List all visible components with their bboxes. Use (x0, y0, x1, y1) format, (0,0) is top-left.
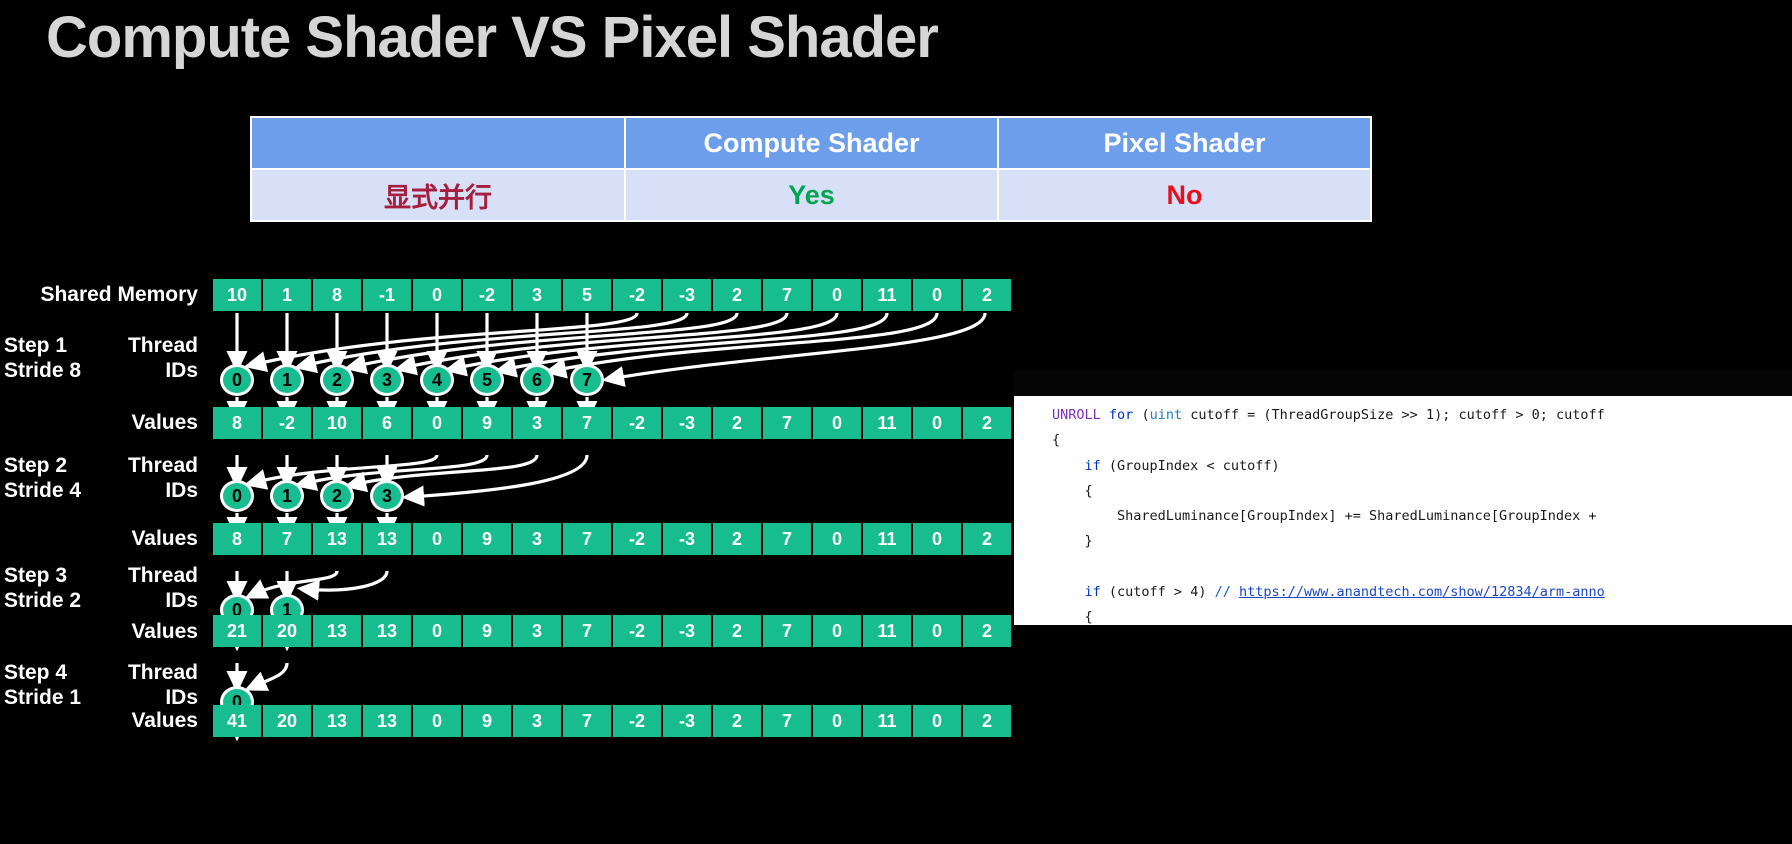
value-cell: 3 (513, 279, 561, 311)
value-cell: 2 (963, 279, 1011, 311)
thread-node: 0 (220, 480, 254, 512)
thread-node: 7 (570, 364, 604, 396)
value-cell: 2 (713, 523, 761, 555)
value-cell: 9 (463, 705, 511, 737)
value-cell: 2 (713, 407, 761, 439)
thread-slot: 5 (463, 363, 511, 397)
value-cell: -2 (613, 615, 661, 647)
value-cell: -3 (663, 615, 711, 647)
value-cell: 7 (763, 705, 811, 737)
code-panel-bottom-strip (1014, 625, 1792, 844)
step-4-values-label: Values (0, 708, 198, 733)
value-cell: 2 (713, 615, 761, 647)
value-cell: -3 (663, 407, 711, 439)
thread-slot: 7 (563, 363, 611, 397)
value-cell: 3 (513, 615, 561, 647)
value-cell: 0 (913, 705, 961, 737)
value-cell: 0 (413, 407, 461, 439)
value-cell: 13 (313, 615, 361, 647)
thread-slot: 0 (213, 363, 261, 397)
thread-node: 0 (220, 364, 254, 396)
value-cell: 2 (963, 615, 1011, 647)
thread-slot: 3 (363, 363, 411, 397)
cell-compute-shader-yes: Yes (625, 169, 998, 221)
value-cell: 2 (963, 523, 1011, 555)
value-cell: 11 (863, 615, 911, 647)
value-cell: 7 (563, 705, 611, 737)
code-panel-top-strip (1014, 370, 1792, 396)
table-header-row: Compute Shader Pixel Shader (251, 117, 1371, 169)
reduction-diagram: Shared Memory 1018-10-235-2-32701102 Ste… (0, 255, 1014, 844)
page-title: Compute Shader VS Pixel Shader (46, 4, 938, 71)
step-3-values-label: Values (0, 619, 198, 644)
step-2-values-cells: 8713130937-2-32701102 (213, 523, 1011, 555)
step-4-values-cells: 412013130937-2-32701102 (213, 705, 1011, 737)
table-header-compute-shader: Compute Shader (625, 117, 998, 169)
comparison-table: Compute Shader Pixel Shader 显式并行 Yes No (250, 116, 1372, 222)
step-1-threads-label: Thread IDs (0, 333, 198, 383)
value-cell: -1 (363, 279, 411, 311)
value-cell: 0 (413, 705, 461, 737)
value-cell: 7 (563, 523, 611, 555)
value-cell: 1 (263, 279, 311, 311)
value-cell: 7 (263, 523, 311, 555)
value-cell: 9 (463, 615, 511, 647)
value-cell: 6 (363, 407, 411, 439)
value-cell: 9 (463, 523, 511, 555)
value-cell: 9 (463, 407, 511, 439)
step-3-threads-label: Thread IDs (0, 563, 198, 613)
code-editor-panel[interactable]: UNROLL for (uint cutoff = (ThreadGroupSi… (1014, 396, 1792, 625)
step-3-values-cells: 212013130937-2-32701102 (213, 615, 1011, 647)
value-cell: 7 (763, 523, 811, 555)
value-cell: 8 (213, 407, 261, 439)
value-cell: -2 (613, 523, 661, 555)
thread-node: 6 (520, 364, 554, 396)
value-cell: 13 (313, 705, 361, 737)
value-cell: 20 (263, 615, 311, 647)
thread-slot: 2 (313, 363, 361, 397)
value-cell: 0 (813, 705, 861, 737)
value-cell: 0 (913, 407, 961, 439)
table-row: 显式并行 Yes No (251, 169, 1371, 221)
value-cell: 13 (363, 615, 411, 647)
value-cell: -2 (613, 279, 661, 311)
value-cell: 20 (263, 705, 311, 737)
value-cell: 8 (313, 279, 361, 311)
value-cell: 13 (313, 523, 361, 555)
value-cell: 0 (413, 523, 461, 555)
value-cell: 21 (213, 615, 261, 647)
value-cell: 7 (563, 615, 611, 647)
value-cell: 13 (363, 705, 411, 737)
value-cell: 11 (863, 705, 911, 737)
value-cell: 3 (513, 523, 561, 555)
value-cell: -3 (663, 279, 711, 311)
value-cell: 11 (863, 523, 911, 555)
value-cell: 0 (813, 407, 861, 439)
value-cell: 2 (963, 705, 1011, 737)
value-cell: 2 (713, 279, 761, 311)
shared-memory-cells: 1018-10-235-2-32701102 (213, 279, 1011, 311)
value-cell: 0 (813, 615, 861, 647)
value-cell: 0 (913, 615, 961, 647)
value-cell: 8 (213, 523, 261, 555)
step-2-values-label: Values (0, 526, 198, 551)
thread-node: 3 (370, 480, 404, 512)
value-cell: 2 (963, 407, 1011, 439)
value-cell: -2 (613, 705, 661, 737)
slide-canvas: Compute Shader VS Pixel Shader Compute S… (0, 0, 1792, 844)
row-label-explicit-parallelism: 显式并行 (251, 169, 625, 221)
value-cell: 10 (313, 407, 361, 439)
thread-slot: 0 (213, 479, 261, 513)
value-cell: 41 (213, 705, 261, 737)
thread-slot: 4 (413, 363, 461, 397)
value-cell: 2 (713, 705, 761, 737)
value-cell: -2 (263, 407, 311, 439)
value-cell: 11 (863, 279, 911, 311)
table-header-blank (251, 117, 625, 169)
step-1-thread-nodes: 01234567 (213, 363, 611, 397)
step-2-thread-nodes: 0123 (213, 479, 411, 513)
thread-node: 4 (420, 364, 454, 396)
value-cell: 7 (763, 407, 811, 439)
value-cell: 7 (763, 279, 811, 311)
value-cell: 0 (813, 279, 861, 311)
thread-slot: 2 (313, 479, 361, 513)
value-cell: 0 (813, 523, 861, 555)
value-cell: 0 (913, 523, 961, 555)
value-cell: 5 (563, 279, 611, 311)
value-cell: 0 (913, 279, 961, 311)
value-cell: 13 (363, 523, 411, 555)
value-cell: 11 (863, 407, 911, 439)
cell-pixel-shader-no: No (998, 169, 1371, 221)
thread-slot: 1 (263, 363, 311, 397)
thread-slot: 3 (363, 479, 411, 513)
value-cell: 0 (413, 615, 461, 647)
table-header-pixel-shader: Pixel Shader (998, 117, 1371, 169)
value-cell: 7 (563, 407, 611, 439)
code-content[interactable]: UNROLL for (uint cutoff = (ThreadGroupSi… (1014, 396, 1792, 625)
shared-memory-label: Shared Memory (0, 282, 198, 307)
step-2-threads-label: Thread IDs (0, 453, 198, 503)
thread-node: 2 (320, 480, 354, 512)
thread-node: 3 (370, 364, 404, 396)
value-cell: -3 (663, 523, 711, 555)
step-4-threads-label: Thread IDs (0, 660, 198, 710)
value-cell: -3 (663, 705, 711, 737)
anandtech-link[interactable]: https://www.anandtech.com/show/12834/arm… (1239, 584, 1605, 600)
value-cell: 10 (213, 279, 261, 311)
thread-node: 1 (270, 480, 304, 512)
thread-node: 5 (470, 364, 504, 396)
value-cell: 3 (513, 407, 561, 439)
thread-slot: 1 (263, 479, 311, 513)
step-1-values-cells: 8-21060937-2-32701102 (213, 407, 1011, 439)
value-cell: -2 (463, 279, 511, 311)
thread-node: 2 (320, 364, 354, 396)
value-cell: 3 (513, 705, 561, 737)
thread-node: 1 (270, 364, 304, 396)
value-cell: 0 (413, 279, 461, 311)
thread-slot: 6 (513, 363, 561, 397)
value-cell: -2 (613, 407, 661, 439)
step-1-values-label: Values (0, 410, 198, 435)
value-cell: 7 (763, 615, 811, 647)
